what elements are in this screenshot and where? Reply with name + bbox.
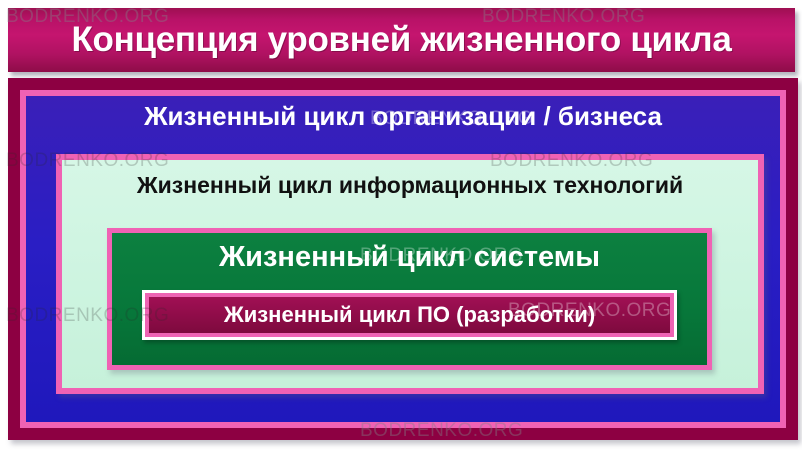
page-title: Концепция уровней жизненного цикла: [72, 22, 732, 57]
level-label-system: Жизненный цикл системы: [112, 241, 707, 274]
slide-title-banner: Концепция уровней жизненного цикла: [8, 8, 795, 72]
level-box-software[interactable]: Жизненный цикл ПО (разработки): [142, 290, 677, 340]
level-box-system[interactable]: Жизненный цикл системы Жизненный цикл ПО…: [107, 228, 712, 370]
level-box-software-inner: Жизненный цикл ПО (разработки): [149, 297, 670, 333]
level-box-organization[interactable]: Жизненный цикл организации / бизнеса Жиз…: [20, 90, 786, 428]
level-label-organization: Жизненный цикл организации / бизнеса: [26, 102, 780, 132]
lifecycle-diagram-frame: Жизненный цикл организации / бизнеса Жиз…: [8, 78, 798, 440]
level-label-information-technology: Жизненный цикл информационных технологий: [62, 172, 758, 198]
level-label-software: Жизненный цикл ПО (разработки): [224, 304, 595, 326]
level-box-information-technology[interactable]: Жизненный цикл информационных технологий…: [56, 154, 764, 394]
